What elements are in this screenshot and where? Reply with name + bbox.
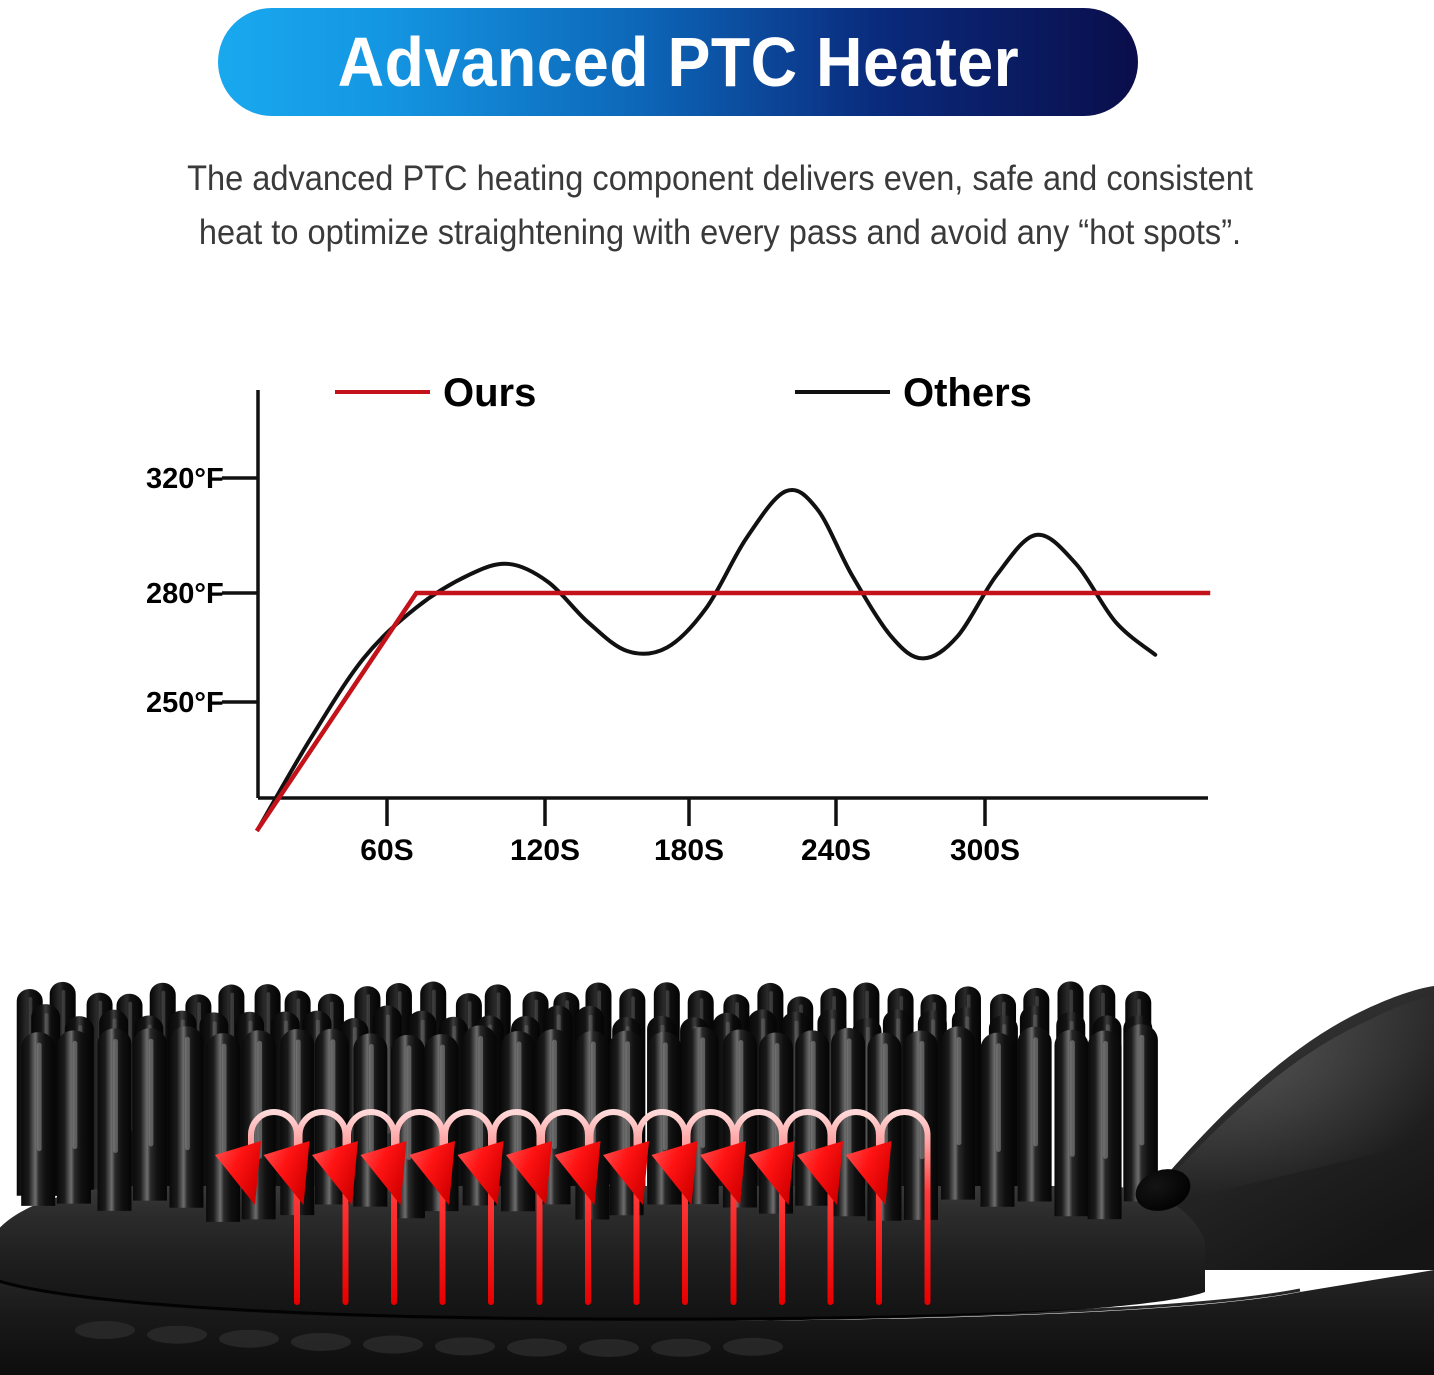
x-axis-ticks: 60S 120S 180S 240S 300S bbox=[360, 798, 1020, 867]
infographic-page: Advanced PTC Heater The advanced PTC hea… bbox=[0, 0, 1434, 1375]
bristle-highlight bbox=[478, 1036, 483, 1149]
bristle-highlight bbox=[739, 1040, 744, 1151]
grip-pad bbox=[363, 1336, 423, 1354]
grip-pad bbox=[75, 1321, 135, 1339]
bristle-highlight bbox=[920, 1041, 925, 1159]
bristle-highlight bbox=[1070, 1040, 1075, 1156]
grip-pad bbox=[147, 1326, 207, 1344]
title-banner: Advanced PTC Heater bbox=[218, 8, 1138, 116]
bristle-highlight bbox=[552, 1040, 557, 1150]
subtitle-line-1: The advanced PTC heating component deliv… bbox=[106, 152, 1334, 206]
bristle-highlight bbox=[407, 1045, 412, 1160]
bristle-highlight bbox=[257, 1041, 262, 1159]
x-tick-label-60: 60S bbox=[360, 834, 413, 867]
grip-pad bbox=[219, 1330, 279, 1348]
series-line-ours bbox=[258, 593, 1208, 829]
x-tick-label-300: 300S bbox=[950, 834, 1020, 867]
grip-pad bbox=[435, 1337, 495, 1355]
bristle-highlight bbox=[811, 1041, 816, 1151]
bristle-highlight bbox=[1033, 1037, 1038, 1146]
bristle-highlight bbox=[996, 1043, 1001, 1152]
bristle-highlight bbox=[185, 1037, 190, 1150]
y-axis-ticks: 320°F 280°F 250°F bbox=[146, 463, 258, 719]
x-tick-label-120: 120S bbox=[510, 834, 580, 867]
bristle-highlight bbox=[1140, 1035, 1145, 1146]
bristle-highlight bbox=[957, 1037, 962, 1145]
y-tick-label-280: 280°F bbox=[146, 578, 224, 610]
bristle-highlight bbox=[331, 1039, 336, 1149]
bristle-highlight bbox=[663, 1042, 668, 1150]
grip-pad bbox=[291, 1333, 351, 1351]
bristle-highlight bbox=[37, 1043, 42, 1152]
grip-pad bbox=[507, 1339, 567, 1357]
bristle-highlight bbox=[73, 1041, 78, 1149]
product-illustration bbox=[0, 940, 1434, 1375]
grip-pad bbox=[579, 1339, 639, 1357]
page-title: Advanced PTC Heater bbox=[337, 22, 1019, 102]
y-tick-label-320: 320°F bbox=[146, 463, 224, 495]
bristle-highlight bbox=[149, 1039, 154, 1147]
grip-pad bbox=[723, 1338, 783, 1356]
legend-label-ours: Ours bbox=[443, 371, 536, 415]
bristle-highlight bbox=[625, 1041, 630, 1156]
bristle-highlight bbox=[369, 1044, 374, 1152]
bristle-highlight bbox=[517, 1041, 522, 1154]
product-image-hair-brush bbox=[0, 940, 1434, 1375]
temperature-comparison-chart: Ours Others 320°F 280°F 250°F 60S bbox=[0, 340, 1434, 900]
grip-pad bbox=[651, 1339, 711, 1357]
bristle-highlight bbox=[700, 1037, 705, 1148]
legend-label-others: Others bbox=[903, 371, 1032, 415]
chart-legend: Ours Others bbox=[335, 371, 1032, 415]
y-tick-label-250: 250°F bbox=[146, 687, 224, 719]
subtitle-line-2: heat to optimize straightening with ever… bbox=[106, 206, 1334, 260]
x-tick-label-180: 180S bbox=[654, 834, 724, 867]
subtitle-text: The advanced PTC heating component deliv… bbox=[106, 152, 1334, 260]
bristle-highlight bbox=[775, 1043, 780, 1156]
chart-svg: Ours Others 320°F 280°F 250°F 60S bbox=[0, 340, 1434, 900]
bristle-highlight bbox=[222, 1044, 227, 1162]
x-tick-label-240: 240S bbox=[801, 834, 871, 867]
series-line-others bbox=[258, 490, 1155, 829]
bristle-highlight bbox=[847, 1038, 852, 1156]
bristle-highlight bbox=[113, 1039, 118, 1153]
bristle-highlight bbox=[1103, 1041, 1108, 1159]
